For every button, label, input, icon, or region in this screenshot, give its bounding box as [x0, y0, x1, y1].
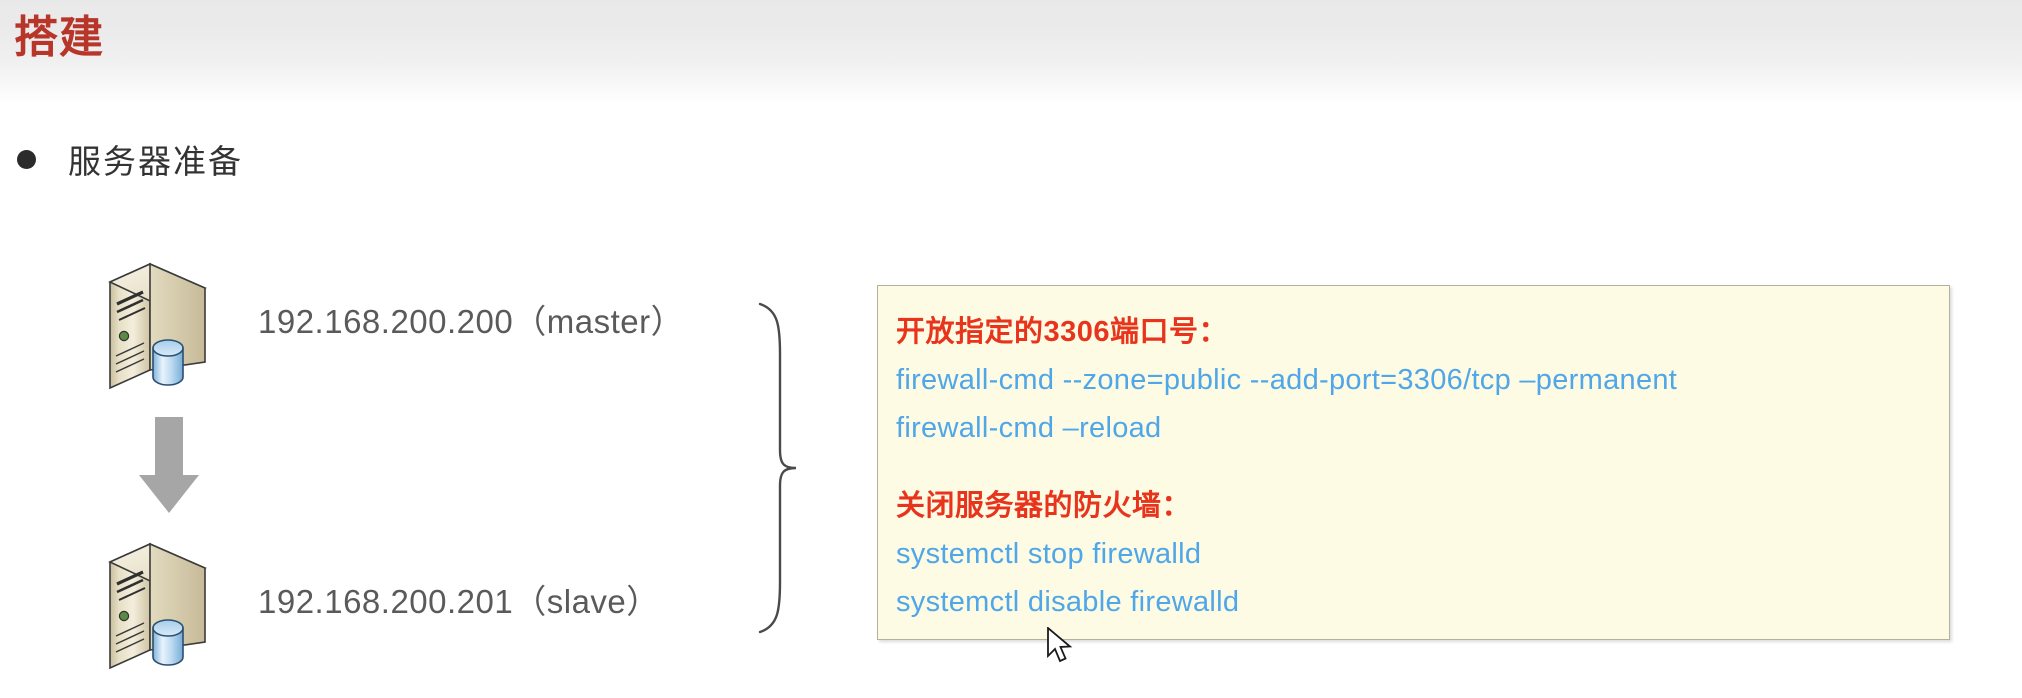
server-ip-label-master: 192.168.200.200（master）	[258, 295, 684, 349]
server-node-slave: 192.168.200.201（slave）	[106, 532, 660, 672]
note-command-systemctl-stop: systemctl stop firewalld	[896, 530, 1949, 578]
command-note-box: 开放指定的3306端口号： firewall-cmd --zone=public…	[877, 285, 1950, 640]
note-group-open-port: 开放指定的3306端口号： firewall-cmd --zone=public…	[896, 308, 1949, 452]
server-node-master: 192.168.200.200（master）	[106, 252, 684, 392]
note-command-firewall-reload: firewall-cmd –reload	[896, 404, 1949, 452]
server-database-icon	[106, 252, 210, 392]
bullet-dot-icon	[17, 150, 36, 169]
server-database-icon	[106, 532, 210, 672]
header-gradient-band	[0, 0, 2022, 104]
note-command-systemctl-disable: systemctl disable firewalld	[896, 578, 1949, 626]
note-heading-disable-firewall: 关闭服务器的防火墙：	[896, 482, 1949, 530]
note-spacer	[896, 452, 1949, 482]
note-heading-open-port: 开放指定的3306端口号：	[896, 308, 1949, 356]
server-ip-label-slave: 192.168.200.201（slave）	[258, 575, 660, 629]
slide-canvas: 搭建 服务器准备	[0, 0, 2022, 698]
note-group-disable-firewall: 关闭服务器的防火墙： systemctl stop firewalld syst…	[896, 482, 1949, 626]
arrow-down-icon	[137, 417, 201, 515]
curly-brace-right-icon	[752, 300, 810, 636]
bullet-item-server-prep: 服务器准备	[14, 135, 243, 183]
page-title: 搭建	[14, 10, 104, 65]
note-command-firewall-add-port: firewall-cmd --zone=public --add-port=33…	[896, 356, 1949, 404]
bullet-item-label: 服务器准备	[68, 135, 243, 183]
